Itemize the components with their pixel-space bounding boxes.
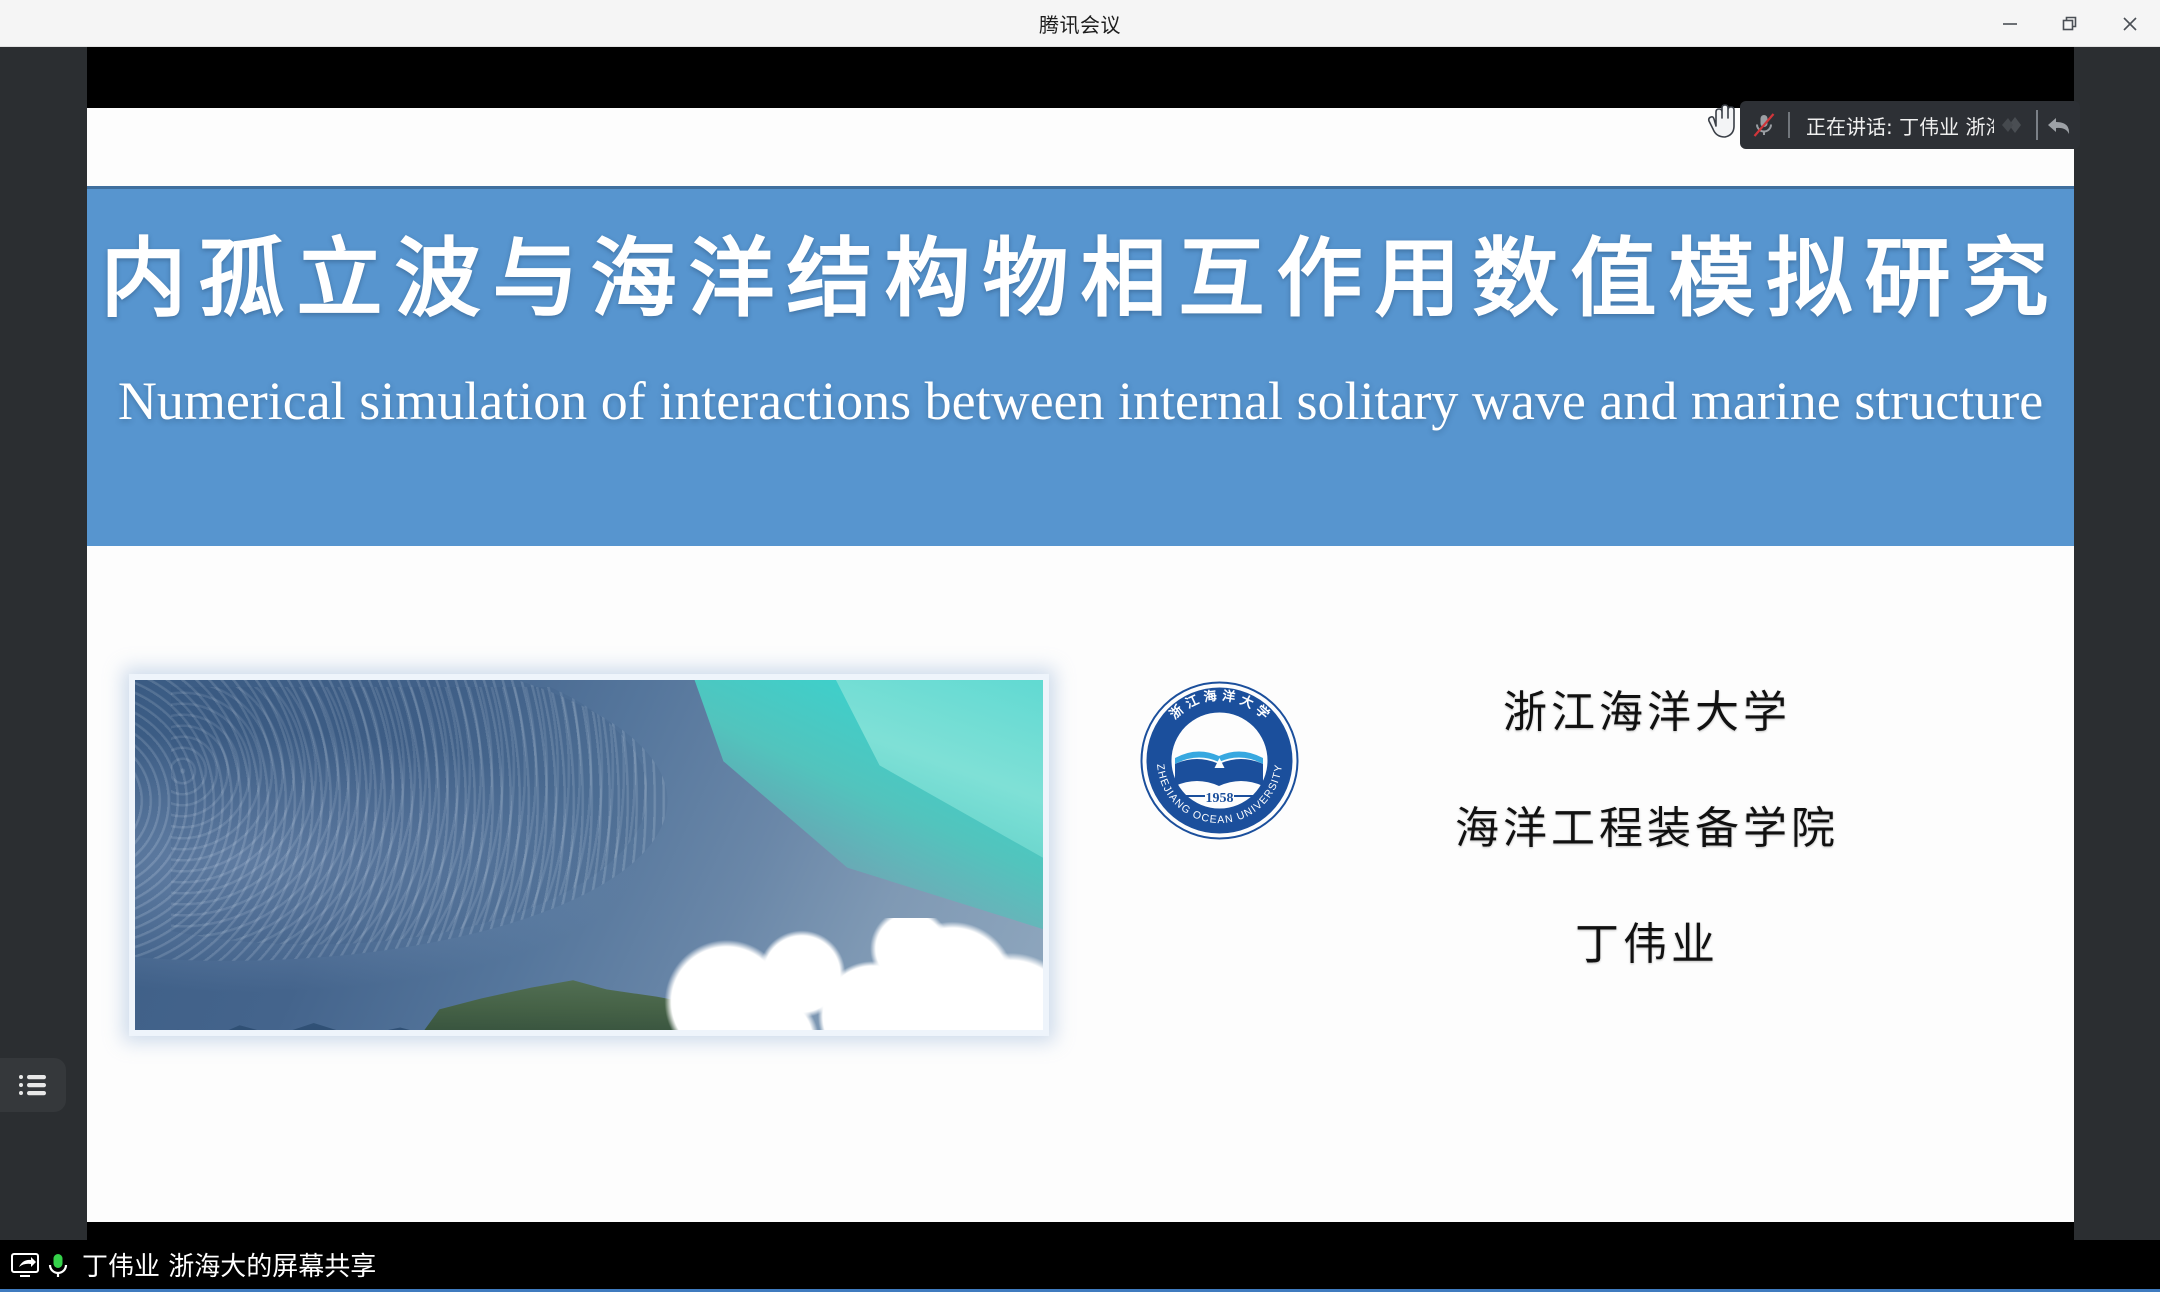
share-status-bar: 丁伟业 浙海大的屏幕共享 <box>0 1240 2160 1292</box>
right-rail <box>2074 47 2160 1240</box>
window-title: 腾讯会议 <box>1039 9 1121 38</box>
affiliation-college: 海洋工程装备学院 <box>1327 792 1967 856</box>
back-arrow-icon[interactable] <box>2038 111 2080 139</box>
speaking-label: 正在讲话: 丁伟业 浙海大; <box>1790 111 1994 140</box>
affiliation-block: 浙江海洋大学 海洋工程装备学院 丁伟业 <box>1327 676 1967 972</box>
slide-title-english: Numerical simulation of interactions bet… <box>87 370 2074 432</box>
zhejiang-ocean-university-logo: 1958 浙 江 海 洋 大 学 ZHEJIANG OCEAN UNIVERSI… <box>1137 678 1302 843</box>
restore-button[interactable] <box>2040 0 2100 47</box>
mic-muted-icon[interactable] <box>1740 111 1788 139</box>
slide-title-chinese: 内孤立波与海洋结构物相互作用数值模拟研究 <box>87 208 2074 333</box>
annotate-icon[interactable] <box>1994 111 2036 139</box>
mic-active-icon <box>46 1251 70 1279</box>
outline-panel-button[interactable] <box>0 1058 66 1112</box>
screen-share-icon <box>10 1252 40 1278</box>
satellite-photo <box>129 674 1049 1036</box>
tencent-meeting-window: 腾讯会议 <box>0 0 2160 1292</box>
letterbox-top <box>87 47 2074 108</box>
affiliation-university: 浙江海洋大学 <box>1327 676 1967 740</box>
pointing-hand-cursor <box>1705 100 1739 145</box>
minimize-button[interactable] <box>1980 0 2040 47</box>
window-title-bar: 腾讯会议 <box>0 0 2160 47</box>
active-speaker-toast[interactable]: 正在讲话: 丁伟业 浙海大; <box>1740 101 2080 149</box>
cloud-cover <box>643 918 1043 1030</box>
affiliation-presenter: 丁伟业 <box>1327 908 1967 972</box>
list-outline-icon <box>18 1072 48 1098</box>
close-button[interactable] <box>2100 0 2160 47</box>
coast-shadow <box>153 995 462 1030</box>
svg-text:1958: 1958 <box>1206 791 1234 806</box>
shared-screen-slide[interactable]: 内孤立波与海洋结构物相互作用数值模拟研究 Numerical simulatio… <box>87 108 2074 1222</box>
letterbox-bottom <box>87 1222 2074 1240</box>
window-controls <box>1980 0 2160 47</box>
share-status-text: 丁伟业 浙海大的屏幕共享 <box>82 1246 376 1283</box>
